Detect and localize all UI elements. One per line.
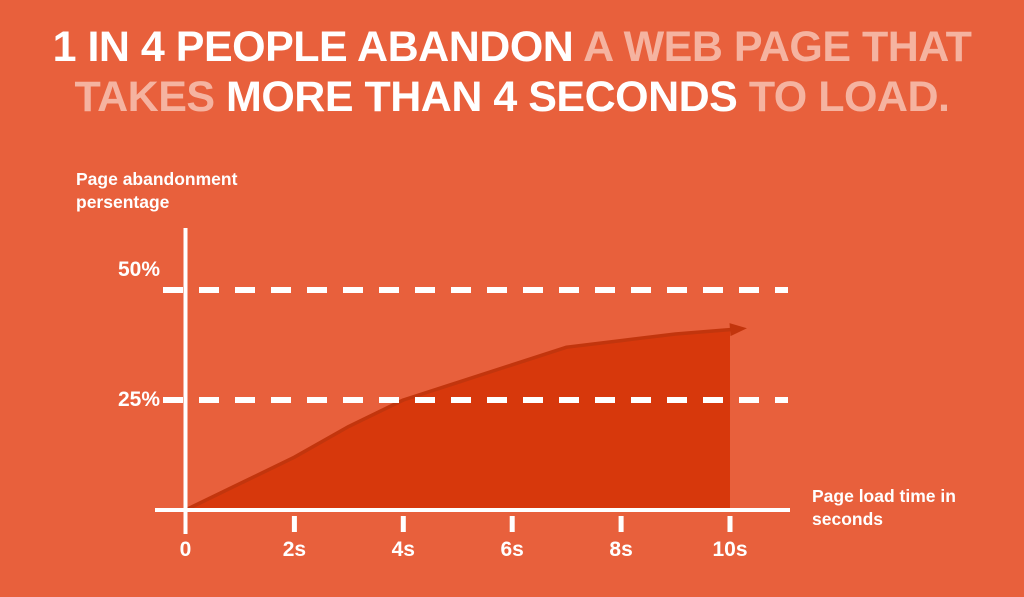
chart-area-abandonment: Page abandonment persentage Page load ti…: [0, 0, 1024, 597]
y-axis-title: Page abandonment persentage: [76, 168, 306, 214]
x-tick-label-6s: 6s: [462, 538, 562, 562]
x-tick-label-10s: 10s: [680, 538, 780, 562]
x-axis-title: Page load time in seconds: [812, 485, 1022, 531]
x-tick-label-4s: 4s: [353, 538, 453, 562]
series-area-fill: [186, 330, 731, 510]
x-tick-label-0: 0: [136, 538, 236, 562]
x-tick-label-8s: 8s: [571, 538, 671, 562]
y-tick-label-50: 50%: [70, 258, 160, 282]
x-axis-ticks: [186, 510, 731, 534]
x-tick-label-2s: 2s: [244, 538, 344, 562]
y-tick-label-25: 25%: [70, 388, 160, 412]
series-end-arrow-icon: [729, 323, 746, 336]
